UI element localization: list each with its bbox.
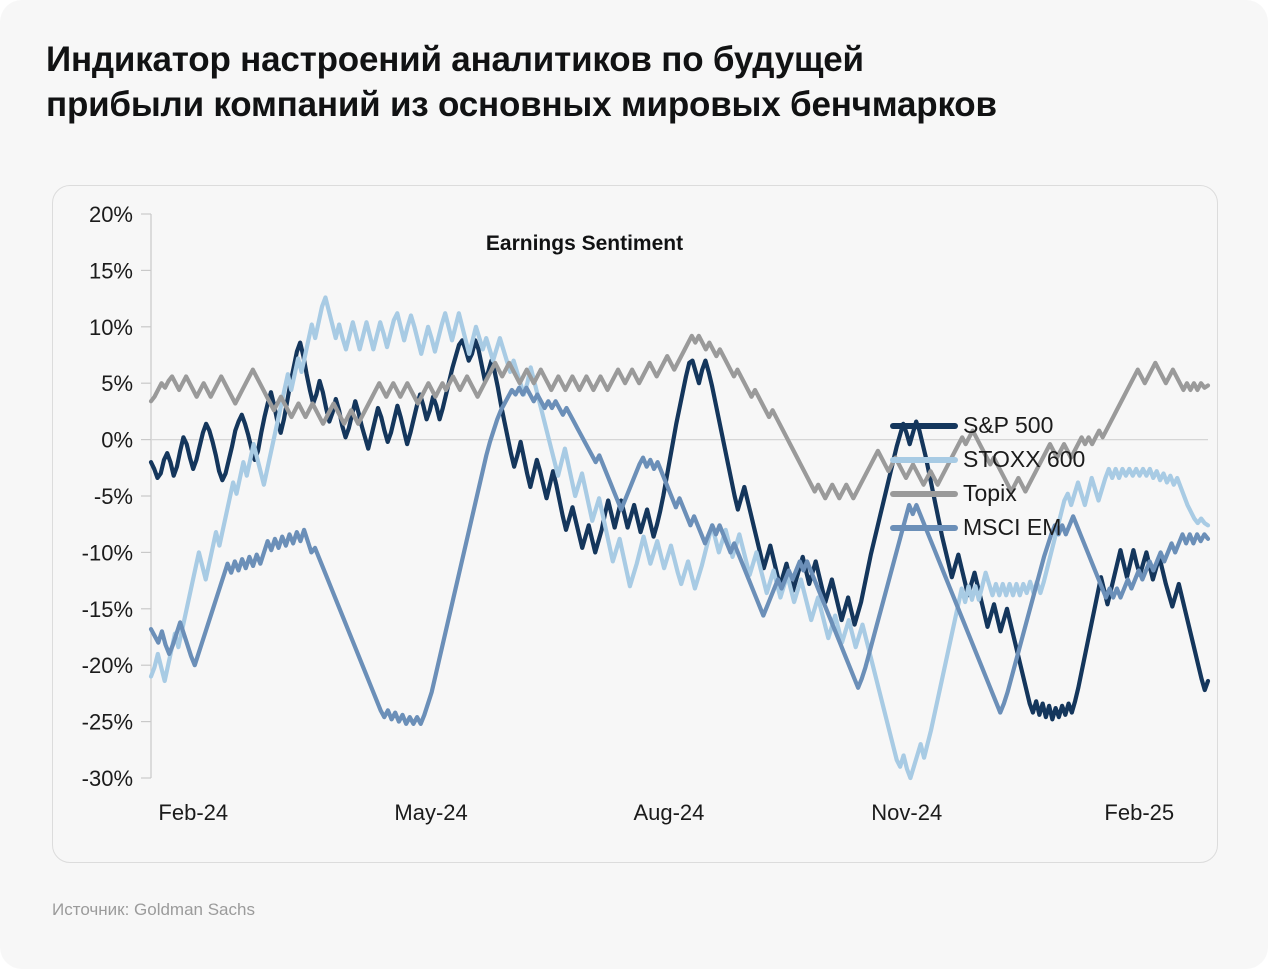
y-axis-label: 10% — [89, 315, 133, 340]
y-axis-label: 5% — [101, 371, 133, 396]
x-axis-label: Aug-24 — [633, 800, 704, 825]
x-axis-label: May-24 — [394, 800, 467, 825]
chart-card: 20%15%10%5%0%-5%-10%-15%-20%-25%-30%Feb-… — [52, 185, 1218, 863]
chart-page: Индикатор настроений аналитиков по будущ… — [0, 0, 1268, 969]
x-axis-label: Feb-24 — [158, 800, 228, 825]
y-axis-label: 15% — [89, 258, 133, 283]
y-axis-label: -5% — [94, 484, 133, 509]
legend-label-stoxx-600: STOXX 600 — [963, 446, 1085, 472]
y-axis-label: -30% — [82, 766, 133, 791]
y-axis-label: -10% — [82, 540, 133, 565]
chart-inner-title: Earnings Sentiment — [486, 232, 683, 255]
earnings-sentiment-chart: 20%15%10%5%0%-5%-10%-15%-20%-25%-30%Feb-… — [53, 186, 1219, 864]
chart-container: 20%15%10%5%0%-5%-10%-15%-20%-25%-30%Feb-… — [53, 186, 1219, 864]
source-note: Источник: Goldman Sachs — [52, 900, 255, 920]
legend-label-msci-em: MSCI EM — [963, 514, 1061, 540]
y-axis-label: -15% — [82, 597, 133, 622]
y-axis-label: 20% — [89, 202, 133, 227]
y-axis-label: -20% — [82, 653, 133, 678]
legend-label-topix: Topix — [963, 480, 1017, 506]
y-axis-label: 0% — [101, 428, 133, 453]
y-axis-label: -25% — [82, 710, 133, 735]
x-axis-label: Nov-24 — [871, 800, 942, 825]
x-axis-label: Feb-25 — [1104, 800, 1174, 825]
legend-label-s-p-500: S&P 500 — [963, 412, 1053, 438]
page-title: Индикатор настроений аналитиков по будущ… — [46, 38, 1226, 128]
